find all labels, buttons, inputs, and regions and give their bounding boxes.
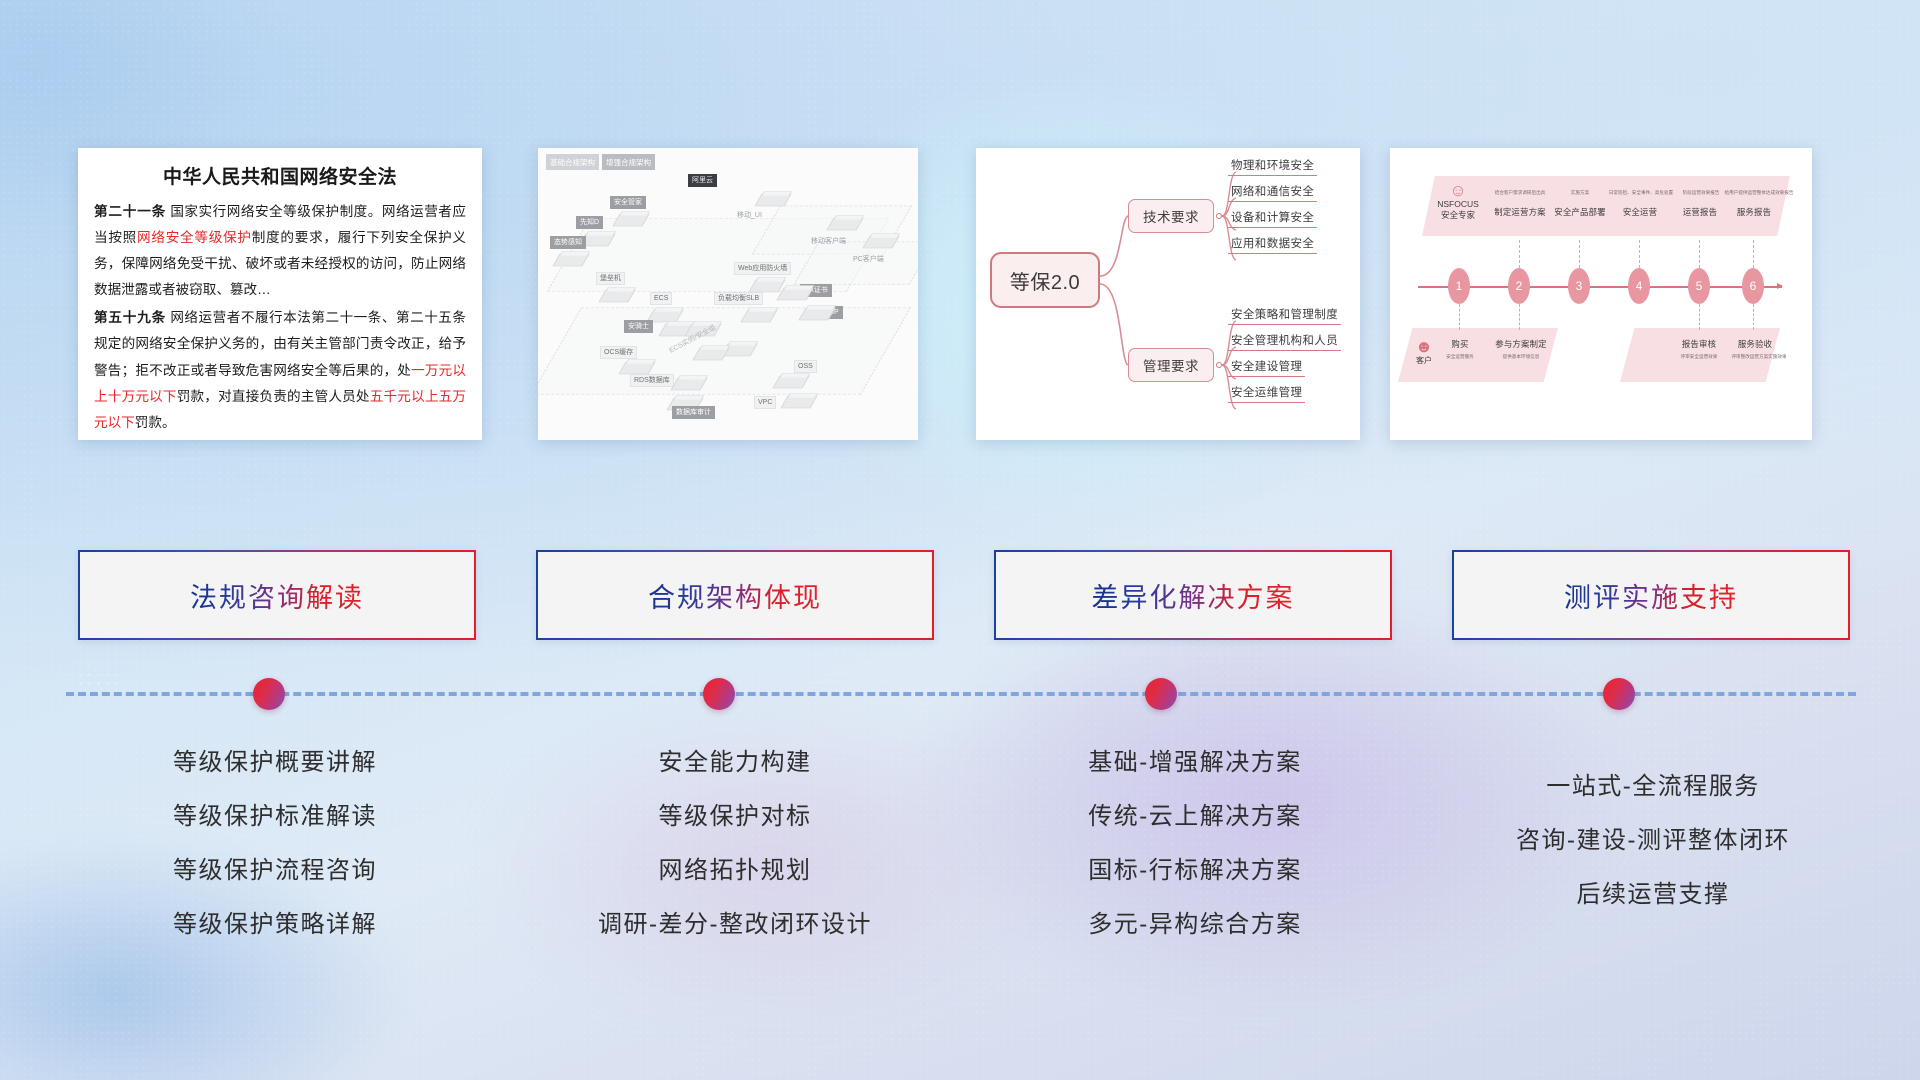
architecture-tabs: 基础合规架构 增强合规架构 (546, 154, 655, 170)
law-text-body: 中华人民共和国网络安全法 第二十一条 国家实行网络安全等级保护制度。网络运营者应… (78, 148, 482, 440)
header-label: 法规咨询解读 (190, 576, 364, 615)
architecture-node-icon (780, 396, 817, 408)
detail-list-compliance-architecture: 安全能力构建 等级保护对标 网络拓扑规划 调研-差分-整改闭环设计 (525, 736, 945, 952)
header-box-assessment-support[interactable]: 测评实施支持 (1452, 550, 1850, 640)
timeline-step-marker: 3 (1568, 268, 1590, 304)
detail-list-regulation-consulting: 等级保护概要讲解 等级保护标准解读 等级保护流程咨询 等级保护策略详解 (65, 736, 485, 952)
architecture-node-label: RDS数据库 (630, 374, 674, 387)
header-label: 差异化解决方案 (1092, 576, 1295, 615)
timeline-node-dot[interactable] (703, 678, 735, 710)
mindmap-leaf: 安全建设管理 (1228, 358, 1305, 377)
list-item: 传统-云上解决方案 (985, 790, 1405, 844)
architecture-node-label: OSS (794, 360, 817, 373)
list-item: 国标-行标解决方案 (985, 844, 1405, 898)
list-item: 等级保护策略详解 (65, 898, 485, 952)
mindmap-branch-technical: 技术要求 (1128, 199, 1214, 233)
law-article-59: 第五十九条 网络运营者不履行本法第二十一条、第二十五条规定的网络安全保护义务的，… (94, 305, 466, 435)
architecture-node-label: 安全管家 (610, 196, 646, 209)
list-item: 等级保护标准解读 (65, 790, 485, 844)
law-article-59-part3: 罚款。 (135, 415, 176, 430)
timeline-connector (1699, 304, 1700, 330)
header-box-differentiated-solutions[interactable]: 差异化解决方案 (994, 550, 1392, 640)
timeline-connector (1753, 304, 1754, 330)
list-item: 等级保护对标 (525, 790, 945, 844)
law-article-21: 第二十一条 国家实行网络安全等级保护制度。网络运营者应当按照网络安全等级保护制度… (94, 199, 466, 303)
timeline-step-marker: 2 (1508, 268, 1530, 304)
timeline-step-title: 购买 (1436, 338, 1484, 350)
mindmap-leaf: 物理和环境安全 (1228, 157, 1317, 176)
architecture-node-label: Web应用防火墙 (734, 262, 791, 275)
list-item: 调研-差分-整改闭环设计 (525, 898, 945, 952)
header-label: 合规架构体现 (648, 576, 822, 615)
nsfocus-expert-role: 安全专家 (1432, 210, 1484, 221)
timeline-step-marker: 1 (1448, 268, 1470, 304)
card-compliance-architecture: 基础合规架构 增强合规架构 阿里云 安全管家 先知D 态势感知 堡垒机 ECS … (538, 148, 918, 440)
nsfocus-expert-block: ☺ NSFOCUS 安全专家 (1432, 182, 1484, 220)
mindmap-leaf: 安全策略和管理制度 (1228, 306, 1341, 325)
mindmap-root-node: 等保2.0 (990, 252, 1100, 308)
architecture-node-label: 移动客户端 (808, 236, 849, 247)
timeline-connector (1459, 304, 1460, 330)
law-article-59-label: 第五十九条 (94, 310, 166, 325)
architecture-node-label: ECS (650, 292, 672, 305)
timeline-connector (1519, 240, 1520, 268)
timeline-step-sub: 评审整改运营方案实施效果 (1720, 354, 1798, 360)
timeline-node-dot[interactable] (1145, 678, 1177, 710)
timeline-step-marker: 4 (1628, 268, 1650, 304)
architecture-node-label: 安骑士 (624, 320, 653, 333)
timeline-step-sub: 给用户提供运营整体达成效果报告 (1714, 190, 1804, 196)
list-item: 等级保护概要讲解 (65, 736, 485, 790)
law-article-21-highlight: 网络安全等级保护 (137, 230, 252, 245)
card-nsfocus-service-timeline: ☺ NSFOCUS 安全专家 ☻ 客户 1 2 3 4 5 6 (1390, 148, 1812, 440)
mindmap-branch-management: 管理要求 (1128, 348, 1214, 382)
law-article-21-label: 第二十一条 (94, 204, 166, 219)
architecture-diagram: 基础合规架构 增强合规架构 阿里云 安全管家 先知D 态势感知 堡垒机 ECS … (538, 148, 918, 440)
mindmap-leaf: 应用和数据安全 (1228, 235, 1317, 254)
nsfocus-timeline-diagram: ☺ NSFOCUS 安全专家 ☻ 客户 1 2 3 4 5 6 (1390, 148, 1812, 440)
timeline-connector (1639, 240, 1640, 268)
list-item: 基础-增强解决方案 (985, 736, 1405, 790)
mindmap-leaf: 安全运维管理 (1228, 384, 1305, 403)
timeline-dashed-line (66, 692, 1856, 696)
list-item: 安全能力构建 (525, 736, 945, 790)
mindmap-collapse-icon[interactable] (1216, 362, 1222, 368)
architecture-node-label: 堡垒机 (596, 272, 625, 285)
card-dengbao-mindmap: 等保2.0 技术要求 物理和环境安全 网络和通信安全 设备和计算安全 应用和数据… (976, 148, 1360, 440)
card-cybersecurity-law: 中华人民共和国网络安全法 第二十一条 国家实行网络安全等级保护制度。网络运营者应… (78, 148, 482, 440)
detail-list-differentiated-solutions: 基础-增强解决方案 传统-云上解决方案 国标-行标解决方案 多元-异构综合方案 (985, 736, 1405, 952)
detail-list-assessment-support: 一站式-全流程服务 咨询-建设-测评整体闭环 后续运营支撑 (1443, 736, 1863, 922)
header-box-regulation-consulting[interactable]: 法规咨询解读 (78, 550, 476, 640)
mindmap-diagram: 等保2.0 技术要求 物理和环境安全 网络和通信安全 设备和计算安全 应用和数据… (976, 148, 1360, 440)
architecture-node-label: 负载均衡SLB (714, 292, 763, 305)
architecture-node-label: OCS缓存 (600, 346, 637, 359)
timeline-step-title: 参与方案制定 (1486, 338, 1556, 350)
architecture-node-icon (776, 288, 813, 300)
timeline-step-marker: 5 (1688, 268, 1710, 304)
header-box-compliance-architecture[interactable]: 合规架构体现 (536, 550, 934, 640)
timeline-step-title: 服务报告 (1718, 206, 1790, 218)
mindmap-leaves-technical: 物理和环境安全 网络和通信安全 设备和计算安全 应用和数据安全 (1228, 156, 1317, 260)
law-article-59-part2: 罚款，对直接负责的主管人员处 (177, 389, 370, 404)
timeline-step-marker: 6 (1742, 268, 1764, 304)
architecture-node-label: 移动_UI (734, 210, 765, 221)
architecture-node-label: 态势感知 (550, 236, 586, 249)
architecture-node-icon (754, 194, 791, 206)
mindmap-leaves-management: 安全策略和管理制度 安全管理机构和人员 安全建设管理 安全运维管理 (1228, 305, 1341, 409)
mindmap-leaf: 网络和通信安全 (1228, 183, 1317, 202)
timeline-step-sub: 实施方案 (1550, 190, 1610, 196)
tab-enhanced-architecture[interactable]: 增强合规架构 (602, 154, 655, 170)
nsfocus-expert-name: NSFOCUS (1432, 199, 1484, 210)
list-item: 网络拓扑规划 (525, 844, 945, 898)
timeline-node-dot[interactable] (253, 678, 285, 710)
timeline-node-dot[interactable] (1603, 678, 1635, 710)
timeline-step-sub: 安全运营服务 (1434, 354, 1486, 360)
architecture-node-label: VPC (754, 396, 776, 409)
top-card-row: 中华人民共和国网络安全法 第二十一条 国家实行网络安全等级保护制度。网络运营者应… (0, 148, 1920, 448)
section-header-row: 法规咨询解读 合规架构体现 差异化解决方案 测评实施支持 (0, 550, 1920, 645)
timeline-axis (1418, 286, 1782, 288)
header-label: 测评实施支持 (1564, 576, 1738, 615)
list-item: 等级保护流程咨询 (65, 844, 485, 898)
tab-basic-architecture[interactable]: 基础合规架构 (546, 154, 599, 170)
list-item: 咨询-建设-测评整体闭环 (1443, 814, 1863, 868)
mindmap-leaf: 设备和计算安全 (1228, 209, 1317, 228)
detail-list-row: 等级保护概要讲解 等级保护标准解读 等级保护流程咨询 等级保护策略详解 安全能力… (0, 736, 1920, 966)
mindmap-leaf: 安全管理机构和人员 (1228, 332, 1341, 351)
timeline-connector (1699, 240, 1700, 268)
timeline-step-sub: 提供基本环境信息 (1486, 354, 1556, 360)
progress-timeline (0, 660, 1920, 720)
timeline-connector (1519, 304, 1520, 330)
mindmap-collapse-icon[interactable] (1216, 213, 1222, 219)
list-item: 多元-异构综合方案 (985, 898, 1405, 952)
architecture-node-label: 阿里云 (688, 174, 717, 187)
timeline-connector (1579, 240, 1580, 268)
list-item: 一站式-全流程服务 (1443, 760, 1863, 814)
law-title: 中华人民共和国网络安全法 (94, 162, 466, 189)
architecture-node-label: PC客户端 (850, 254, 887, 265)
list-item: 后续运营支撑 (1443, 868, 1863, 922)
timeline-connector (1753, 240, 1754, 268)
architecture-node-label: 先知D (576, 216, 603, 229)
timeline-step-title: 服务验收 (1720, 338, 1790, 350)
architecture-node-icon (598, 290, 635, 302)
architecture-node-label: 数据库审计 (672, 406, 715, 419)
